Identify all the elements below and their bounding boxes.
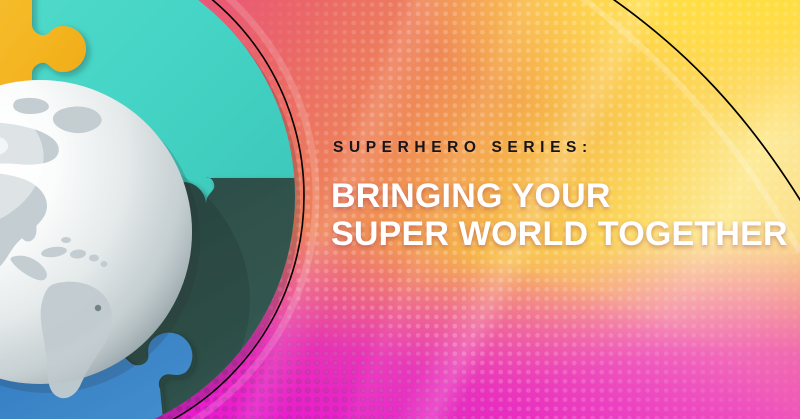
- page-title: BRINGING YOUR SUPER WORLD TOGETHER: [331, 177, 771, 255]
- eyebrow-text: SUPERHERO SERIES:: [333, 140, 771, 156]
- banner-copy: SUPERHERO SERIES: BRINGING YOUR SUPER WO…: [331, 140, 771, 254]
- superhero-series-banner: SUPERHERO SERIES: BRINGING YOUR SUPER WO…: [0, 0, 800, 419]
- headline-line-1: BRINGING YOUR: [331, 177, 611, 215]
- headline-line-2: SUPER WORLD TOGETHER: [331, 215, 771, 254]
